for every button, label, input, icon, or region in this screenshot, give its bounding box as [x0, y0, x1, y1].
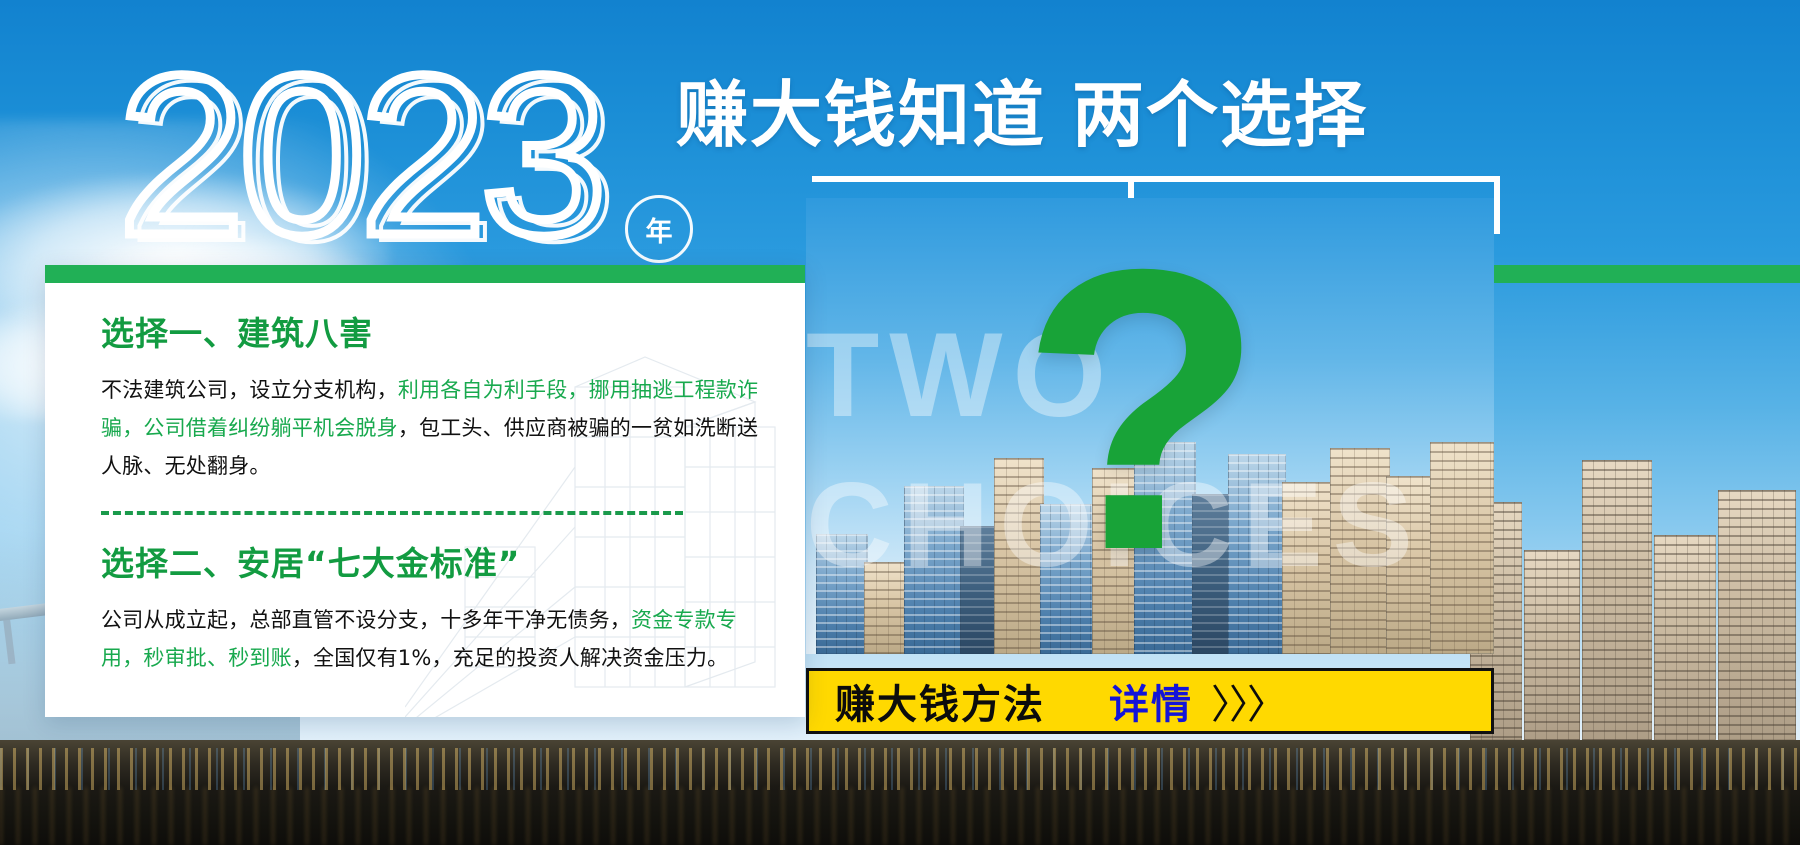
section-1-body-part-1: 不法建筑公司，设立分支机构， — [101, 378, 398, 402]
city-skyline-photo — [806, 428, 1494, 654]
background-buildings-photo — [1470, 410, 1800, 740]
headline-part-1: 赚大钱知道 — [676, 73, 1046, 157]
section-divider — [101, 511, 683, 515]
content-card: 选择一、建筑八害 不法建筑公司，设立分支机构，利用各自为利手段，挪用抽逃工程款诈… — [45, 265, 805, 717]
cta-button[interactable]: 赚大钱方法 详情 〉〉〉 — [806, 668, 1494, 734]
city-photo-panel — [806, 198, 1494, 654]
water-reflection — [0, 787, 1800, 845]
card-content: 选择一、建筑八害 不法建筑公司，设立分支机构，利用各自为利手段，挪用抽逃工程款诈… — [45, 265, 805, 677]
section-2-body: 公司从成立起，总部直管不设分支，十多年干净无债务，资金专款专用，秒审批、秒到账，… — [101, 601, 769, 677]
year-suffix-badge: 年 — [625, 195, 693, 263]
page-title: 赚大钱知道两个选择 — [676, 78, 1368, 154]
section-1-body: 不法建筑公司，设立分支机构，利用各自为利手段，挪用抽逃工程款诈骗，公司借着纠纷躺… — [101, 371, 769, 485]
section-2-title: 选择二、安居“七大金标准” — [101, 537, 769, 585]
cta-main-label: 赚大钱方法 — [835, 672, 1045, 730]
city-lights — [0, 748, 1800, 790]
section-1-title: 选择一、建筑八害 — [101, 307, 769, 355]
bottom-night-city-strip — [0, 740, 1800, 845]
right-accent-bar — [1494, 265, 1800, 283]
year-suffix-label: 年 — [646, 210, 673, 249]
chevron-right-icon: 〉〉〉 — [1211, 672, 1285, 730]
section-2-body-part-1: 公司从成立起，总部直管不设分支，十多年干净无债务， — [101, 608, 631, 632]
headline-underline — [812, 176, 1500, 182]
promo-banner: 2023 2023 年 赚大钱知道两个选择 — [0, 0, 1800, 845]
headline-part-2: 两个选择 — [1072, 73, 1368, 157]
cta-detail-link[interactable]: 详情 — [1109, 672, 1193, 730]
headline-tick-right — [1494, 176, 1500, 234]
section-2-body-part-3: ，全国仅有1%，充足的投资人解决资金压力。 — [292, 646, 729, 670]
